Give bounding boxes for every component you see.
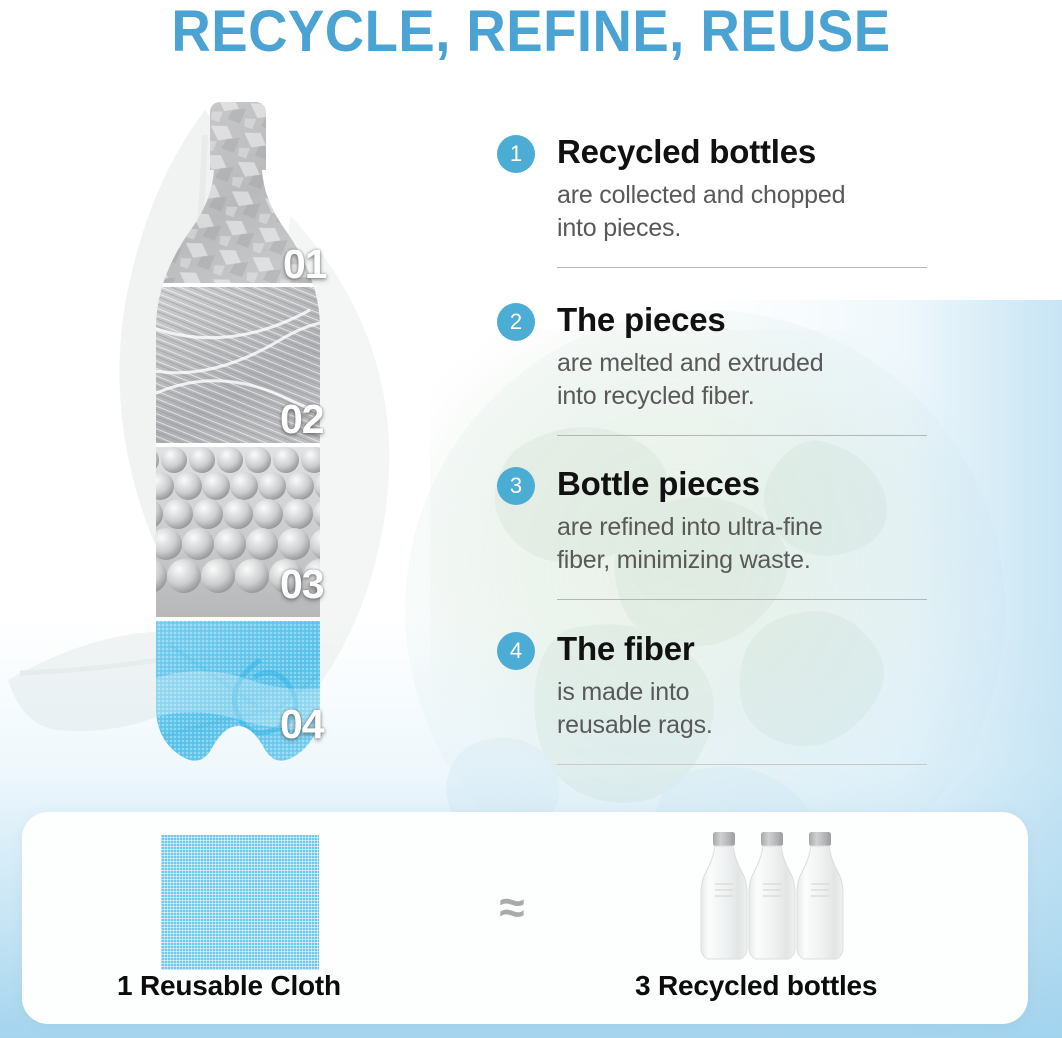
step-header: 1 Recycled bottles <box>497 132 927 173</box>
step-body-3: are refined into ultra-fine fiber, minim… <box>557 511 927 577</box>
step-title-4: The fiber <box>557 629 695 669</box>
bottle-segment-03 <box>110 447 400 619</box>
step-header: 4 The fiber <box>497 629 927 670</box>
step-divider-1 <box>557 267 927 268</box>
step-item-2: 2 The pieces are melted and extruded int… <box>497 300 927 436</box>
bottles-caption: 3 Recycled bottles <box>635 970 877 1002</box>
segment-number-02: 02 <box>280 396 324 443</box>
bottle-segment-04 <box>110 621 400 800</box>
step-body-4: is made into reusable rags. <box>557 676 927 742</box>
step-title-3: Bottle pieces <box>557 464 760 504</box>
comparison-card-inner: ≈ <box>22 812 1028 1024</box>
step-badge-3: 3 <box>497 467 535 505</box>
segmented-bottle-graphic: 01 02 03 04 <box>110 100 400 800</box>
cloth-caption: 1 Reusable Cloth <box>117 970 341 1002</box>
bottle-shape <box>110 100 400 800</box>
step-divider-2 <box>557 435 927 436</box>
bottle-segment-02 <box>110 287 400 445</box>
step-divider-4 <box>557 764 927 765</box>
step-badge-2: 2 <box>497 303 535 341</box>
recycled-bottles-icon <box>695 824 875 974</box>
step-item-3: 3 Bottle pieces are refined into ultra-f… <box>497 464 927 600</box>
step-title-2: The pieces <box>557 300 726 340</box>
page-title: RECYCLE, REFINE, REUSE <box>32 0 1030 65</box>
cloth-swatch <box>161 835 319 970</box>
segment-number-04: 04 <box>280 701 324 748</box>
steps-list: 1 Recycled bottles are collected and cho… <box>497 132 927 765</box>
approximately-equal-icon: ≈ <box>477 884 547 930</box>
step-badge-1: 1 <box>497 135 535 173</box>
infographic-page: RECYCLE, REFINE, REUSE <box>0 0 1062 1038</box>
step-header: 3 Bottle pieces <box>497 464 927 505</box>
step-title-1: Recycled bottles <box>557 132 816 172</box>
step-body-1: are collected and chopped into pieces. <box>557 179 927 245</box>
segment-number-01: 01 <box>283 241 327 288</box>
step-divider-3 <box>557 599 927 600</box>
bottle-segment-01 <box>110 100 400 285</box>
step-badge-4: 4 <box>497 632 535 670</box>
step-item-1: 1 Recycled bottles are collected and cho… <box>497 132 927 268</box>
step-header: 2 The pieces <box>497 300 927 341</box>
step-body-2: are melted and extruded into recycled fi… <box>557 347 927 413</box>
step-item-4: 4 The fiber is made into reusable rags. <box>497 629 927 765</box>
comparison-card: ≈ <box>22 812 1028 1024</box>
segment-number-03: 03 <box>280 561 324 608</box>
